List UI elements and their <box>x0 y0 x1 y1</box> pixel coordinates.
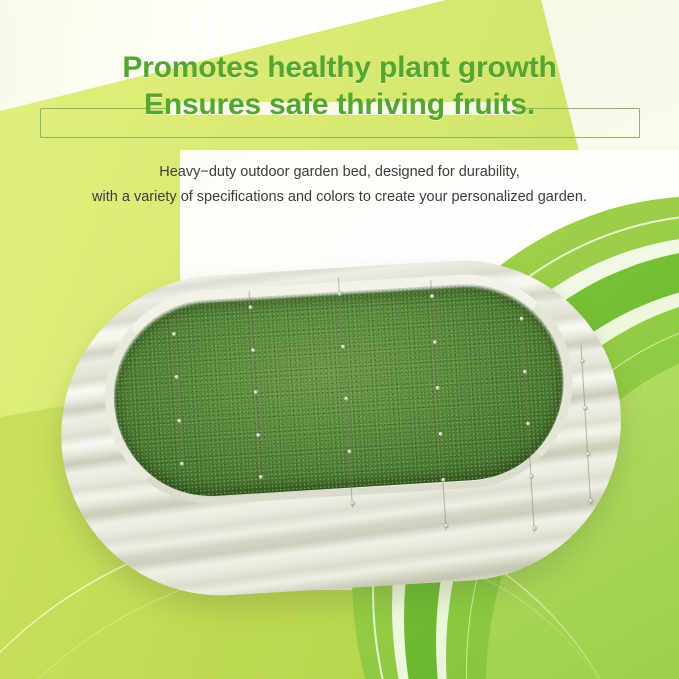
headline-line-1: Promotes healthy plant growth <box>0 50 679 87</box>
garden-bed-rivet <box>177 418 181 422</box>
page-subtitle: Heavy−duty outdoor garden bed, designed … <box>0 160 679 211</box>
garden-bed-rivet <box>580 359 584 363</box>
garden-bed-rivet <box>441 478 445 482</box>
garden-bed-rivet <box>430 294 434 298</box>
subtitle-line-1: Heavy−duty outdoor garden bed, designed … <box>0 160 679 185</box>
garden-bed-rivet <box>258 475 262 479</box>
garden-bed-rivet <box>432 340 436 344</box>
garden-bed-rivet <box>347 449 351 453</box>
garden-bed-rivet <box>248 305 252 309</box>
garden-bed-rivet <box>583 406 587 410</box>
garden-bed-rivet <box>532 526 536 530</box>
product-marketing-poster: Promotes healthy plant growth Ensures sa… <box>0 0 679 679</box>
subtitle-line-2: with a variety of specifications and col… <box>0 185 679 210</box>
page-title: Promotes healthy plant growth Ensures sa… <box>0 50 679 123</box>
headline-line-2: Ensures safe thriving fruits. <box>0 87 679 124</box>
garden-bed-rivet <box>444 524 448 528</box>
garden-bed-rivet <box>526 422 530 426</box>
garden-bed-rivet <box>256 433 260 437</box>
garden-bed-rivet <box>529 474 533 478</box>
garden-bed-rivet <box>344 397 348 401</box>
garden-bed-rivet <box>337 292 341 296</box>
garden-bed-rivet <box>171 332 175 336</box>
garden-bed-rivet <box>253 390 257 394</box>
garden-bed-rivet <box>251 348 255 352</box>
garden-bed-rivet <box>179 462 183 466</box>
garden-bed-rivet <box>522 369 526 373</box>
garden-bed-rivet <box>435 386 439 390</box>
garden-bed-rivet <box>438 432 442 436</box>
garden-bed-rivet <box>340 344 344 348</box>
garden-bed-rivet <box>519 317 523 321</box>
garden-bed-rivet <box>588 499 592 503</box>
product-image-raised-garden-bed <box>52 251 632 635</box>
garden-bed-rivet <box>350 501 354 505</box>
